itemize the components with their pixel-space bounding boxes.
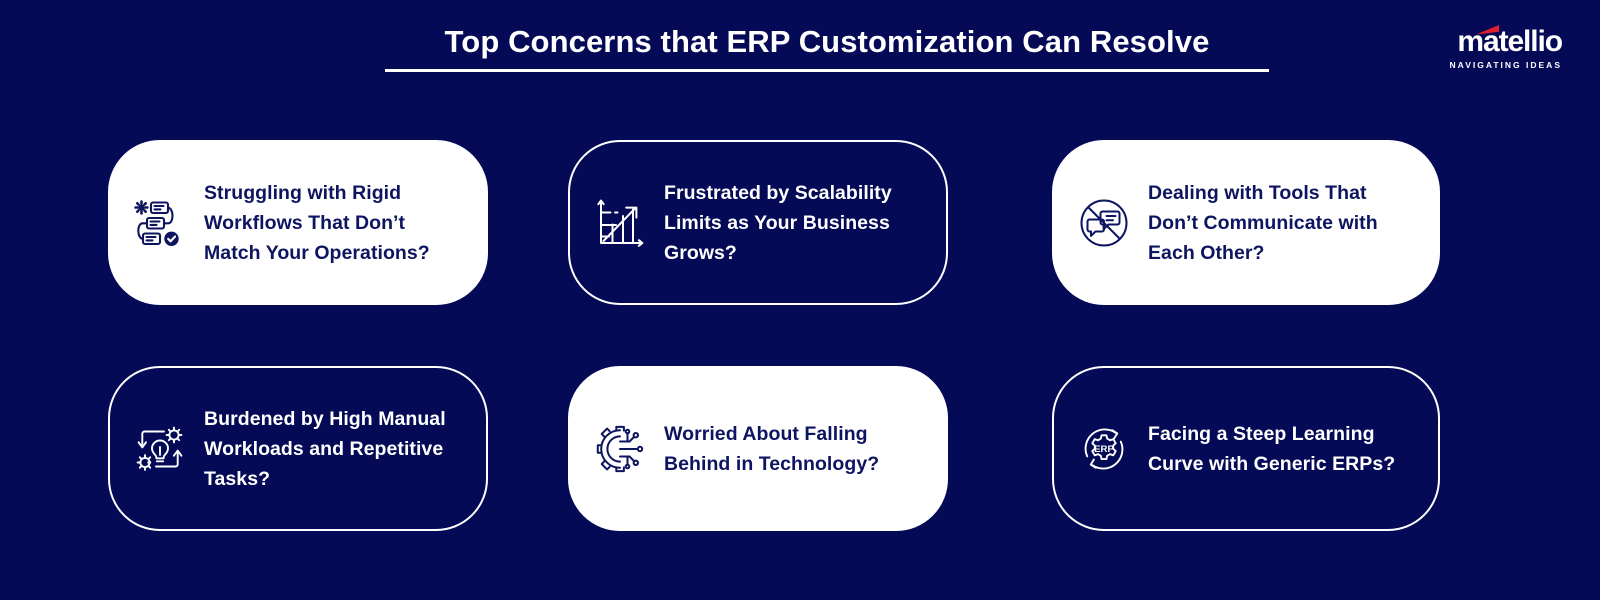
workflow-gear-check-icon (132, 195, 188, 251)
concern-card-label: Struggling with Rigid Workflows That Don… (204, 178, 460, 268)
concern-card-grid: Struggling with Rigid Workflows That Don… (0, 0, 1600, 600)
concern-card-label: Dealing with Tools That Don’t Communicat… (1148, 178, 1412, 268)
growth-chart-arrow-icon (592, 195, 648, 251)
concern-card-steep-learning-curve[interactable]: ERP Facing a Steep Learning Curve with G… (1052, 366, 1440, 531)
concern-card-scalability-limits[interactable]: Frustrated by Scalability Limits as Your… (568, 140, 948, 305)
erp-gear-refresh-icon: ERP (1076, 421, 1132, 477)
concern-card-falling-behind-technology[interactable]: Worried About Falling Behind in Technolo… (568, 366, 948, 531)
gear-circuit-icon (592, 421, 648, 477)
concern-card-label: Facing a Steep Learning Curve with Gener… (1148, 419, 1412, 479)
concern-card-tools-no-communication[interactable]: Dealing with Tools That Don’t Communicat… (1052, 140, 1440, 305)
infographic-page: Top Concerns that ERP Customization Can … (0, 0, 1600, 600)
concern-card-rigid-workflows[interactable]: Struggling with Rigid Workflows That Don… (108, 140, 488, 305)
erp-icon-label: ERP (1094, 444, 1114, 455)
no-chat-bubbles-icon (1076, 195, 1132, 251)
concern-card-manual-workloads[interactable]: Burdened by High Manual Workloads and Re… (108, 366, 488, 531)
concern-card-label: Burdened by High Manual Workloads and Re… (204, 404, 460, 494)
concern-card-label: Worried About Falling Behind in Technolo… (664, 419, 920, 479)
lightbulb-gears-arrows-icon (132, 421, 188, 477)
concern-card-label: Frustrated by Scalability Limits as Your… (664, 178, 920, 268)
